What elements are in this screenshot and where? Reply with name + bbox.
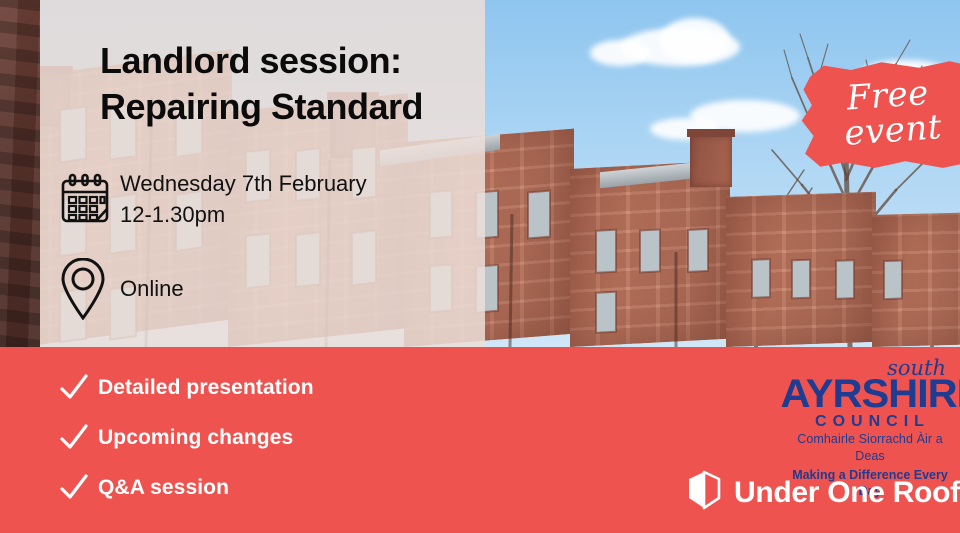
event-location-row: Online bbox=[58, 258, 184, 320]
list-item: Upcoming changes bbox=[58, 413, 314, 463]
check-icon bbox=[58, 472, 98, 504]
list-item-label: Detailed presentation bbox=[98, 376, 314, 400]
under-one-roof-logo: Under One Roof bbox=[686, 470, 960, 515]
list-item: Detailed presentation bbox=[58, 363, 314, 413]
event-poster: Landlord session: Repairing Standard bbox=[0, 0, 960, 533]
list-item-label: Upcoming changes bbox=[98, 426, 293, 450]
location-pin-icon bbox=[58, 258, 120, 320]
event-date-line-1: Wednesday 7th February bbox=[120, 171, 367, 196]
badge-line-2: event bbox=[843, 110, 943, 151]
check-icon bbox=[58, 372, 98, 404]
shield-house-icon bbox=[686, 470, 722, 515]
event-location-text: Online bbox=[120, 273, 184, 304]
page-title: Landlord session: Repairing Standard bbox=[100, 38, 530, 130]
left-stone-wall bbox=[0, 0, 40, 347]
title-line-2: Repairing Standard bbox=[100, 84, 530, 130]
free-event-badge: Free event bbox=[800, 59, 960, 169]
event-date-text: Wednesday 7th February 12-1.30pm bbox=[120, 168, 367, 230]
under-one-roof-label: Under One Roof bbox=[734, 476, 960, 510]
check-icon bbox=[58, 422, 98, 454]
red-banner: Detailed presentation Upcoming changes Q… bbox=[0, 347, 960, 533]
logo-ayrshire-word: AYRSHIRE bbox=[781, 376, 960, 413]
event-date-row: Wednesday 7th February 12-1.30pm bbox=[58, 168, 367, 230]
free-event-label: Free event bbox=[796, 53, 960, 175]
title-line-1: Landlord session: bbox=[100, 38, 530, 84]
calendar-icon bbox=[58, 172, 120, 226]
logo-gaelic-line: Comhairle Siorrachd Àir a Deas bbox=[784, 431, 956, 464]
feature-checklist: Detailed presentation Upcoming changes Q… bbox=[58, 363, 314, 513]
list-item: Q&A session bbox=[58, 463, 314, 513]
list-item-label: Q&A session bbox=[98, 476, 229, 500]
event-time-line-2: 12-1.30pm bbox=[120, 202, 225, 227]
